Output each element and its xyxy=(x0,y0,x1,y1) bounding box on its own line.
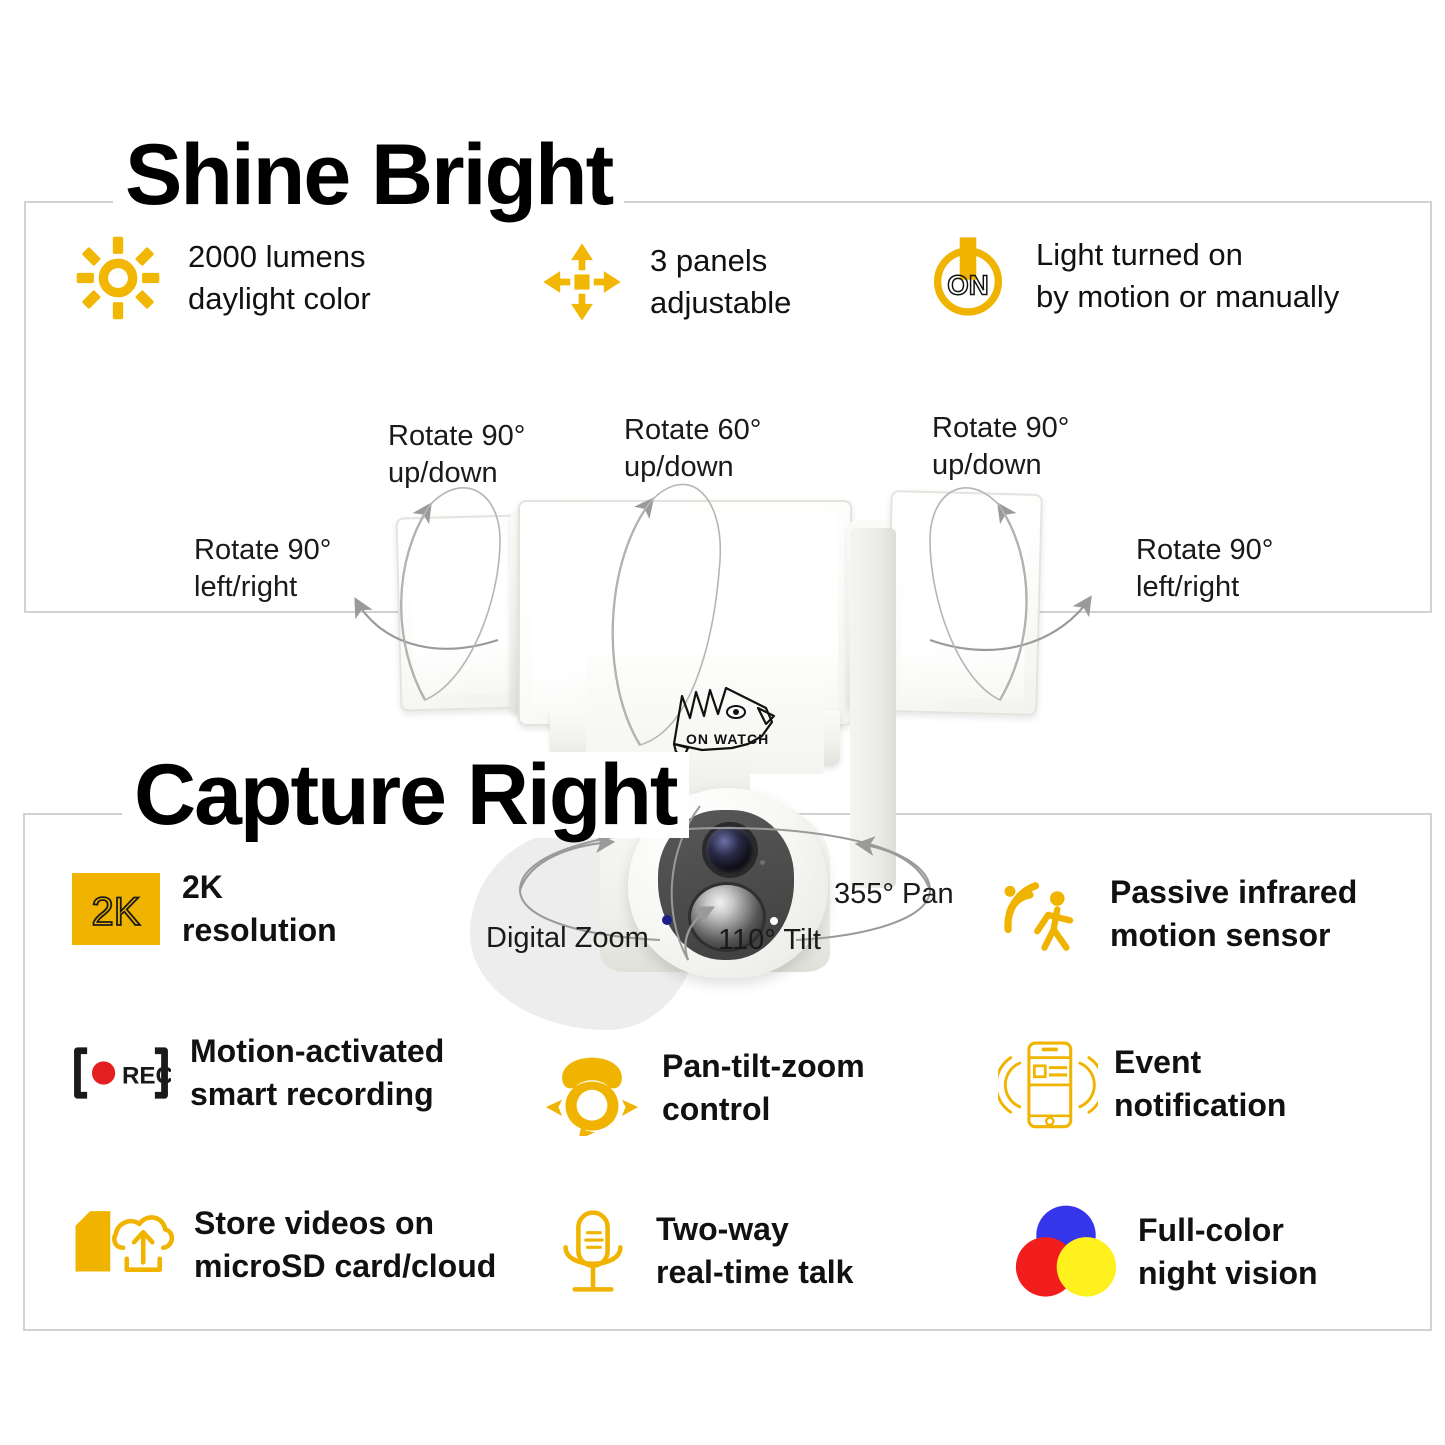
feature-event-notification: Event notification xyxy=(996,1032,1416,1136)
annotation-left-panel-updown: Rotate 90° up/down xyxy=(388,418,525,492)
rec-icon-text: REC xyxy=(122,1063,171,1090)
2k-badge-icon: 2K xyxy=(72,873,160,945)
capture-right-heading: Capture Right xyxy=(122,752,689,838)
feature-3-panels-adjustable: 3 panels adjustable xyxy=(536,236,936,328)
power-on-icon: ON xyxy=(920,228,1016,324)
shine-bright-heading: Shine Bright xyxy=(113,132,624,218)
annotation-right-panel-leftright: Rotate 90° left/right xyxy=(1136,532,1273,606)
feature-full-color-night-vision: Full-color night vision xyxy=(1010,1200,1430,1304)
phone-notification-icon xyxy=(996,1032,1100,1136)
power-on-icon-text: ON xyxy=(947,269,988,300)
microphone-pinhole xyxy=(760,860,765,865)
camera-lens xyxy=(702,822,758,878)
pan-tilt-zoom-icon xyxy=(540,1038,644,1138)
feature-store-videos: Store videos on microSD card/cloud xyxy=(70,1202,540,1288)
feature-label: 2000 lumens daylight color xyxy=(188,236,371,320)
feature-label: Pan-tilt-zoom control xyxy=(662,1045,865,1131)
rgb-circles-icon xyxy=(1010,1200,1122,1304)
sun-icon xyxy=(72,232,164,324)
annotation-right-panel-updown: Rotate 90° up/down xyxy=(932,410,1069,484)
feature-motion-activated-recording: REC Motion-activated smart recording xyxy=(70,1030,510,1116)
floodlight-panel-left xyxy=(395,514,526,711)
annotation-left-panel-leftright: Rotate 90° left/right xyxy=(194,532,331,606)
feature-pir-motion-sensor: Passive infrared motion sensor xyxy=(988,862,1428,966)
feature-light-turned-on: ON Light turned on by motion or manually xyxy=(920,228,1420,324)
panel-lens-right xyxy=(900,502,1029,699)
rec-brackets-icon: REC xyxy=(70,1042,172,1104)
feature-label: Passive infrared motion sensor xyxy=(1110,871,1357,957)
sdcard-cloud-icon xyxy=(70,1202,178,1288)
feature-label: Two-way real-time talk xyxy=(656,1208,853,1294)
feature-two-way-talk: Two-way real-time talk xyxy=(548,1204,948,1298)
infographic-page: Shine Bright Capture Right xyxy=(0,0,1445,1445)
feature-label: Light turned on by motion or manually xyxy=(1036,234,1339,318)
feature-label: 3 panels adjustable xyxy=(650,240,791,324)
brand-logo-text: ON WATCH xyxy=(686,731,769,747)
feature-label: 2K resolution xyxy=(182,866,337,952)
feature-label: Full-color night vision xyxy=(1138,1209,1318,1295)
feature-label: Motion-activated smart recording xyxy=(190,1030,444,1116)
feature-2000-lumens: 2000 lumens daylight color xyxy=(72,232,492,324)
annotation-center-panel-updown: Rotate 60° up/down xyxy=(624,412,761,486)
pir-motion-icon xyxy=(988,862,1092,966)
microphone-icon xyxy=(548,1204,638,1298)
feature-label: Event notification xyxy=(1114,1041,1286,1127)
2k-badge-text: 2K xyxy=(92,890,141,934)
floodlight-panel-right xyxy=(885,490,1043,716)
feature-2k-resolution: 2K 2K resolution xyxy=(72,866,452,952)
annotation-tilt: 110° Tilt xyxy=(718,922,821,959)
feature-pan-tilt-zoom-control: Pan-tilt-zoom control xyxy=(540,1038,940,1138)
four-way-arrows-icon xyxy=(536,236,628,328)
annotation-pan: 355° Pan xyxy=(834,876,954,913)
panel-lens-left xyxy=(410,527,512,696)
annotation-digital-zoom: Digital Zoom xyxy=(486,920,649,957)
feature-label: Store videos on microSD card/cloud xyxy=(194,1202,496,1288)
status-led-blue xyxy=(662,915,672,925)
